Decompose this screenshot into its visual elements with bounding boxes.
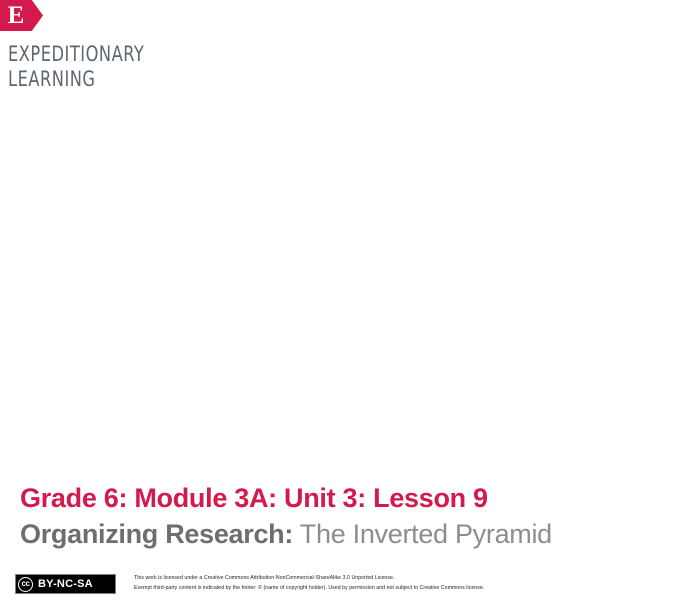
lesson-cover-page: E EXPEDITIONARY LEARNING Grade 6: Module… (0, 0, 693, 600)
cc-license-label: BY-NC-SA (38, 578, 93, 590)
license-line-1: This work is licensed under a Creative C… (134, 573, 685, 583)
cc-license-badge[interactable]: cc BY-NC-SA (15, 574, 116, 594)
license-footer: cc BY-NC-SA This work is licensed under … (15, 572, 685, 594)
logo-letter: E (0, 0, 30, 31)
page-subtitle-rest: The Inverted Pyramid (293, 519, 552, 549)
expeditionary-learning-logo-icon: E (0, 0, 43, 31)
page-title: Grade 6: Module 3A: Unit 3: Lesson 9 (20, 483, 693, 514)
page-subtitle: Organizing Research: The Inverted Pyrami… (20, 519, 693, 550)
brand-wordmark: EXPEDITIONARY LEARNING (8, 42, 144, 92)
creative-commons-icon: cc (18, 577, 33, 592)
brand-block: E EXPEDITIONARY LEARNING (0, 0, 340, 31)
page-subtitle-lead: Organizing Research: (20, 519, 293, 549)
license-text: This work is licensed under a Creative C… (134, 572, 685, 593)
license-line-2: Exempt third-party content is indicated … (134, 583, 685, 593)
title-block: Grade 6: Module 3A: Unit 3: Lesson 9 Org… (20, 483, 693, 550)
